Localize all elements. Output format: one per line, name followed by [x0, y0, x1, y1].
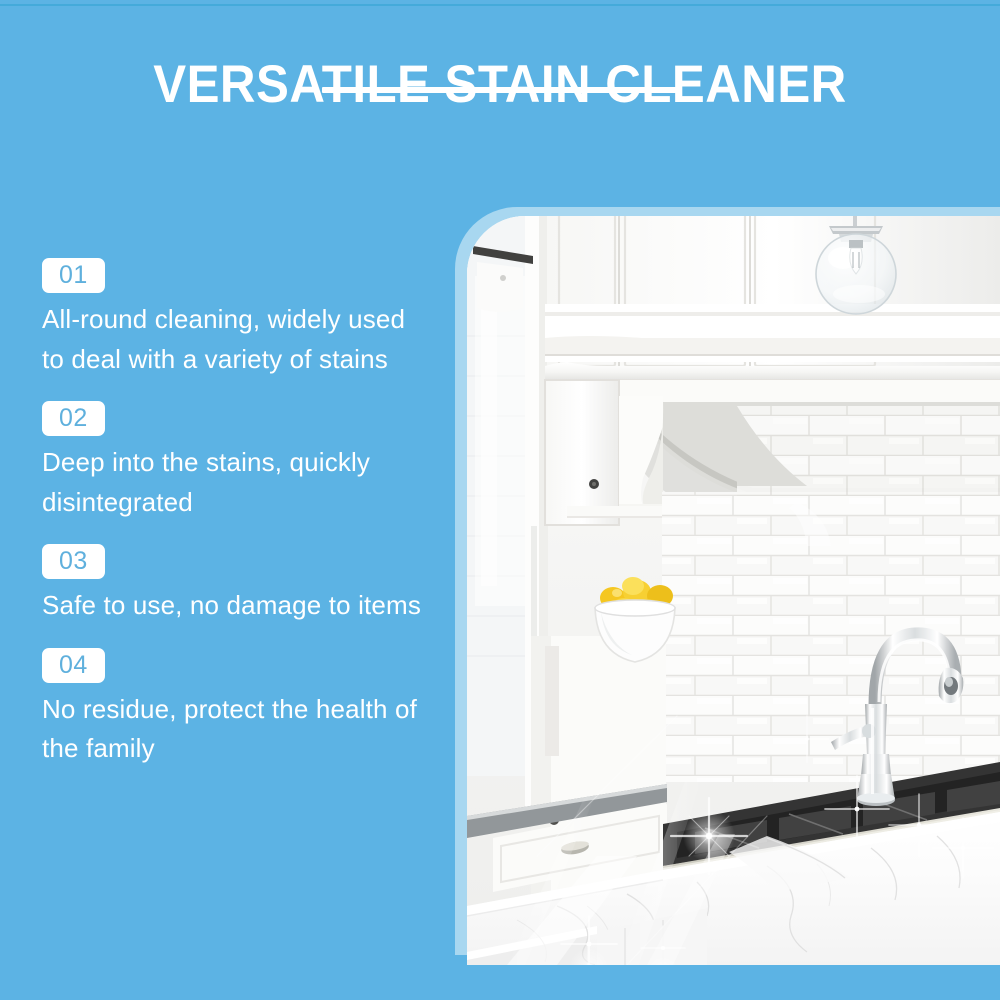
feature-item-01: 01 All-round cleaning, widely used to de… — [42, 258, 442, 379]
feature-number-badge: 02 — [42, 401, 105, 436]
feature-number-badge: 04 — [42, 648, 105, 683]
feature-description: Safe to use, no damage to items — [42, 586, 424, 626]
feature-description: Deep into the stains, quickly disintegra… — [42, 443, 424, 522]
feature-item-03: 03 Safe to use, no damage to items — [42, 544, 442, 626]
photo-panel — [455, 207, 1000, 958]
header: VERSATILE STAIN CLEANER — [0, 58, 1000, 111]
title-underline — [322, 87, 678, 93]
top-accent-line — [0, 4, 1000, 6]
feature-list: 01 All-round cleaning, widely used to de… — [42, 258, 442, 791]
feature-item-02: 02 Deep into the stains, quickly disinte… — [42, 401, 442, 522]
feature-number-badge: 01 — [42, 258, 105, 293]
kitchen-photo — [467, 216, 1000, 965]
feature-description: All-round cleaning, widely used to deal … — [42, 300, 424, 379]
feature-item-04: 04 No residue, protect the health of the… — [42, 648, 442, 769]
feature-description: No residue, protect the health of the fa… — [42, 690, 424, 769]
page-title: VERSATILE STAIN CLEANER — [35, 58, 965, 111]
kitchen-scene-illustration — [467, 216, 1000, 965]
feature-number-badge: 03 — [42, 544, 105, 579]
